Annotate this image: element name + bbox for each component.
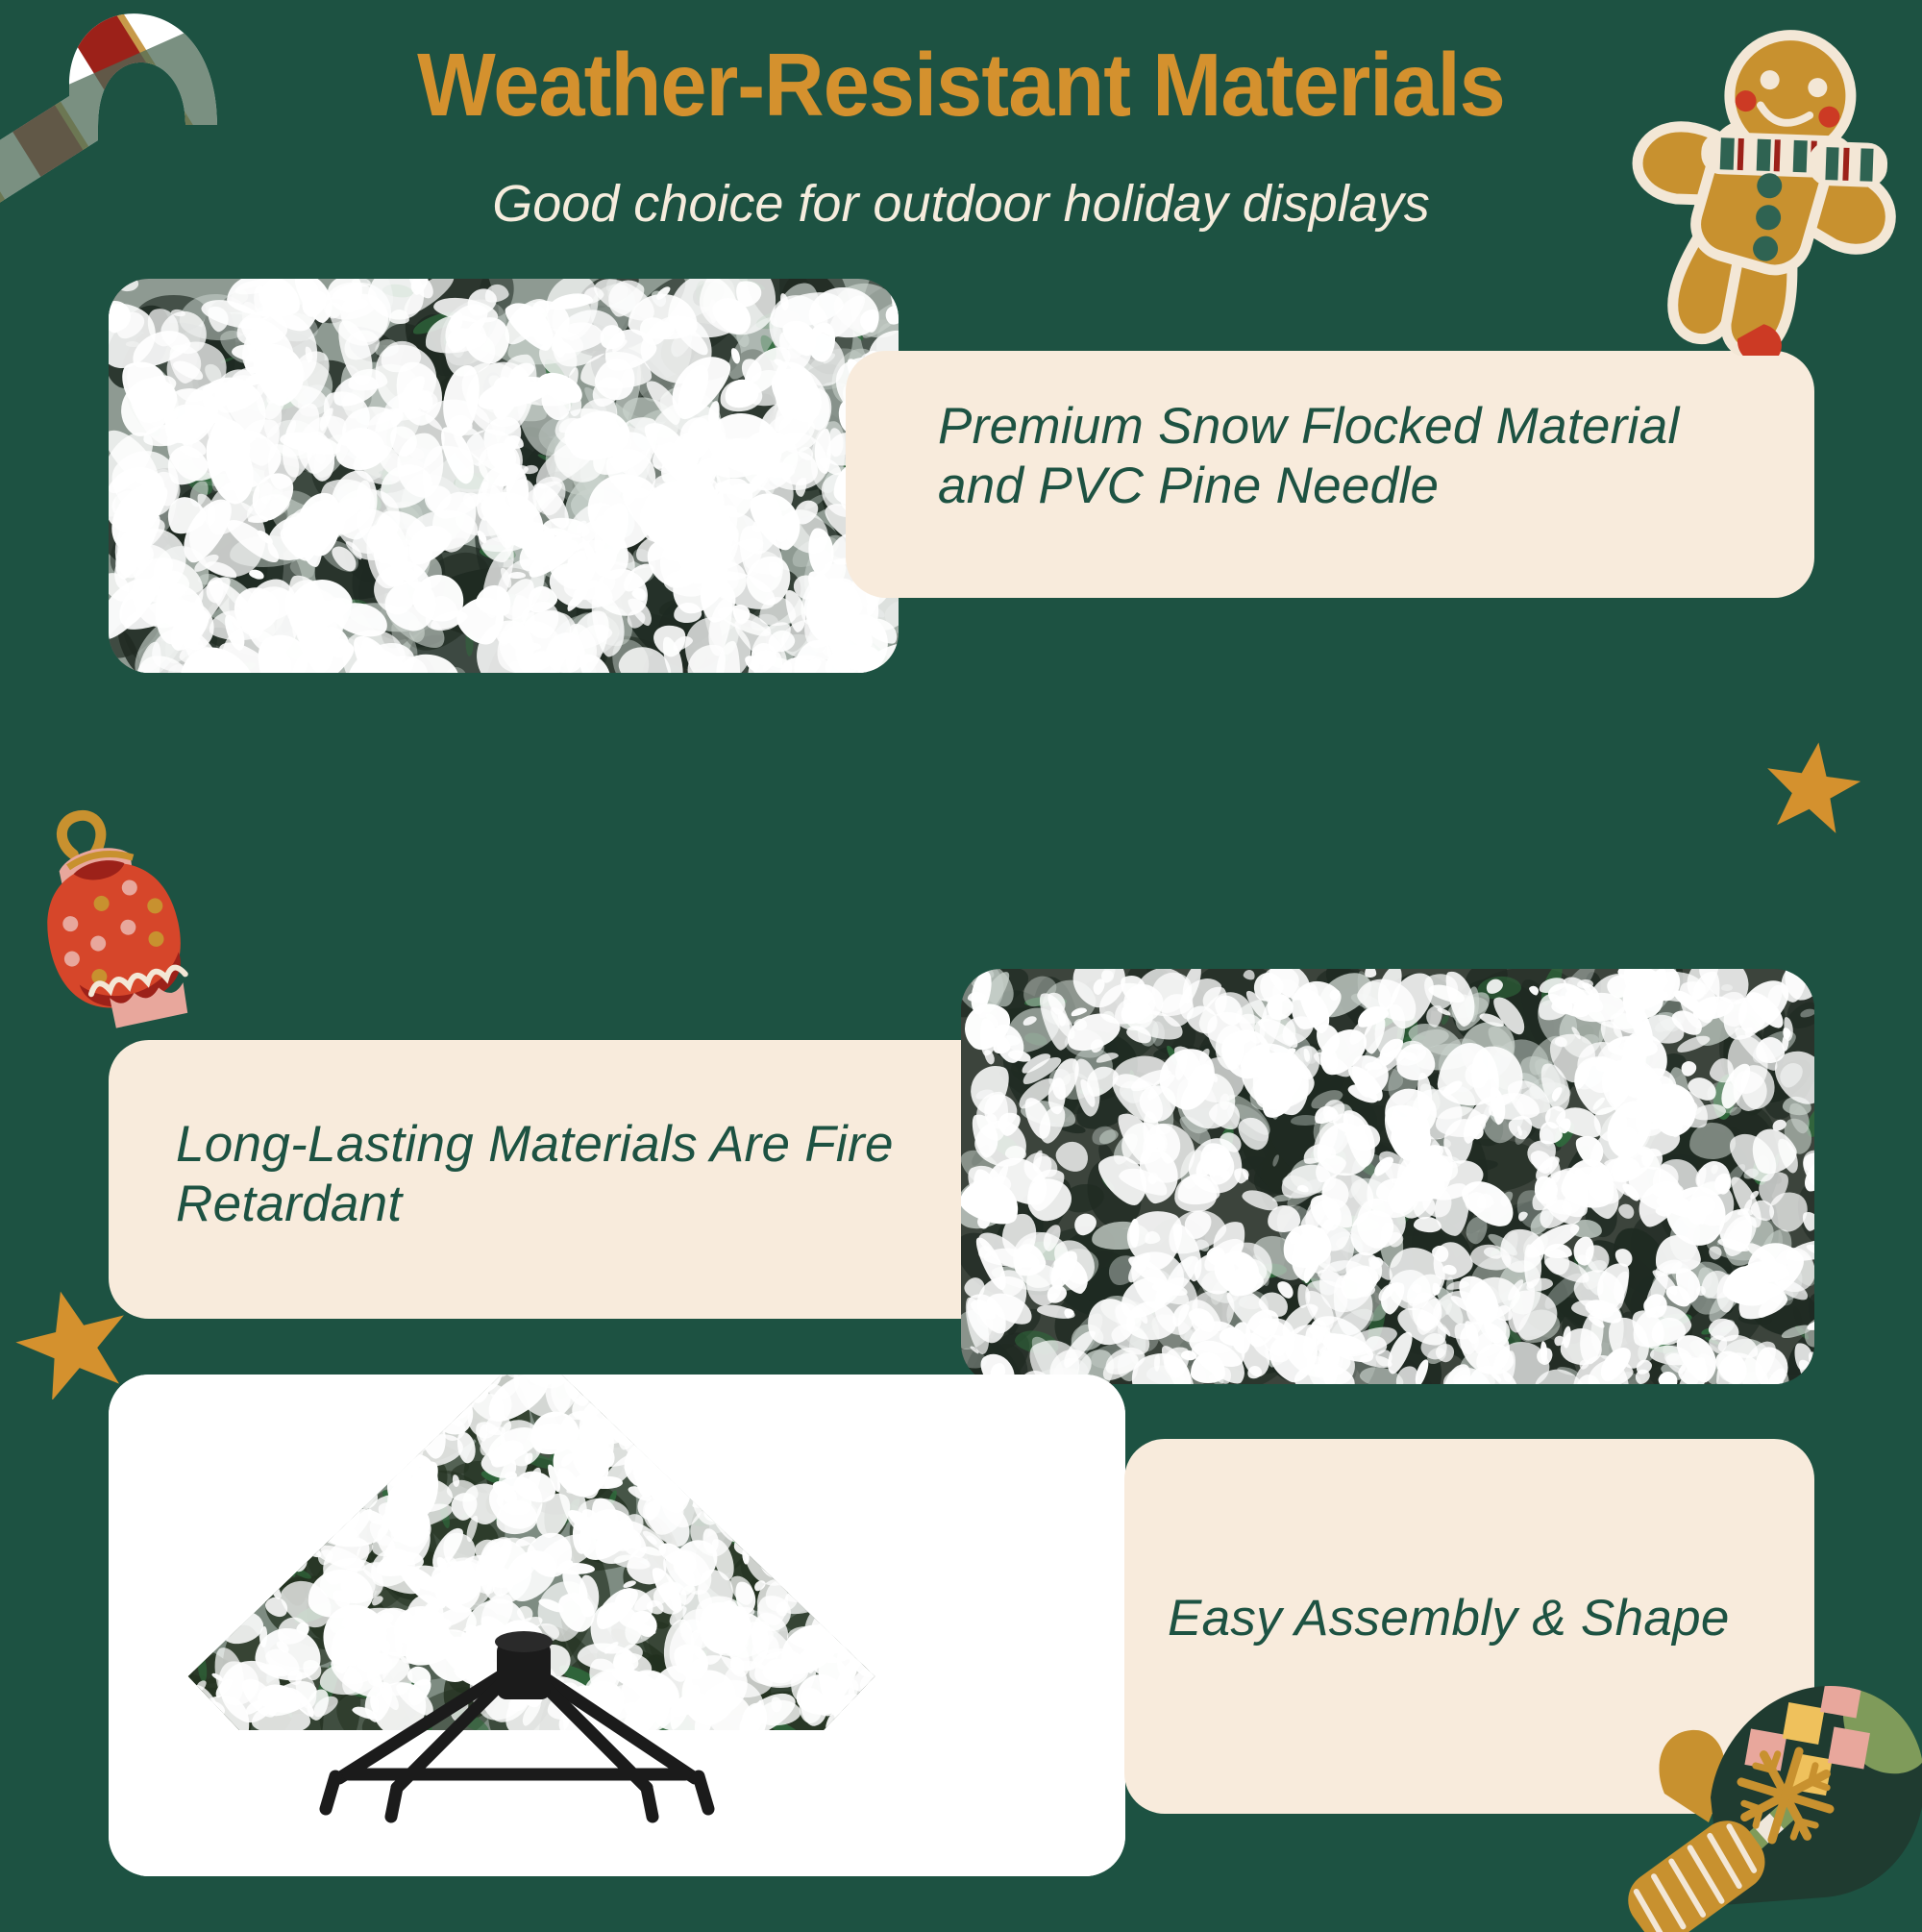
- tree-stand-icon: [109, 1375, 1125, 1876]
- christmas-ornament-icon: [21, 807, 204, 1033]
- feature-3-image: [109, 1375, 1125, 1876]
- feature-1-label: Premium Snow Flocked Material and PVC Pi…: [938, 397, 1764, 516]
- feature-1-text-card: Premium Snow Flocked Material and PVC Pi…: [846, 351, 1814, 598]
- feature-3-label: Easy Assembly & Shape: [1168, 1589, 1821, 1648]
- page-title: Weather-Resistant Materials: [67, 40, 1855, 130]
- star-icon: [1764, 738, 1860, 834]
- infographic-root: Weather-Resistant Materials Good choice …: [0, 0, 1922, 1922]
- gingerbread-man-icon: [1595, 10, 1922, 356]
- tree-base-with-stand-photo: [109, 1375, 1125, 1876]
- feature-2-label: Long-Lasting Materials Are Fire Retardan…: [176, 1115, 1022, 1234]
- frosted-needle-photo: [961, 969, 1814, 1384]
- star-icon: [15, 1286, 131, 1399]
- snow-flocked-branch-photo: [109, 279, 899, 673]
- feature-1-image: [109, 279, 899, 673]
- feature-2-text-card: Long-Lasting Materials Are Fire Retardan…: [109, 1040, 1094, 1319]
- mitten-icon: [1595, 1653, 1922, 1932]
- feature-2-image: [961, 969, 1814, 1384]
- candy-cane-icon: [0, 13, 221, 206]
